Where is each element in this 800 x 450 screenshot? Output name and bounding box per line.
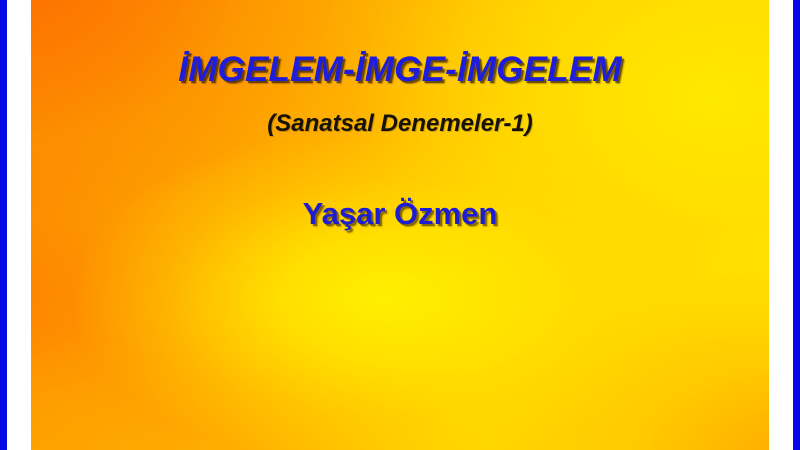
- book-subtitle: (Sanatsal Denemeler-1): [31, 110, 769, 138]
- left-white-gutter: [7, 0, 31, 450]
- right-blue-rail: [793, 0, 800, 450]
- right-white-gutter: [769, 0, 793, 450]
- left-blue-rail: [0, 0, 7, 450]
- book-title: İMGELEM-İMGE-İMGELEM: [31, 50, 769, 90]
- author-name: Yaşar Özmen: [31, 196, 769, 232]
- cover-text-block: İMGELEM-İMGE-İMGELEM (Sanatsal Denemeler…: [31, 0, 769, 450]
- title-slide: İMGELEM-İMGE-İMGELEM (Sanatsal Denemeler…: [0, 0, 800, 450]
